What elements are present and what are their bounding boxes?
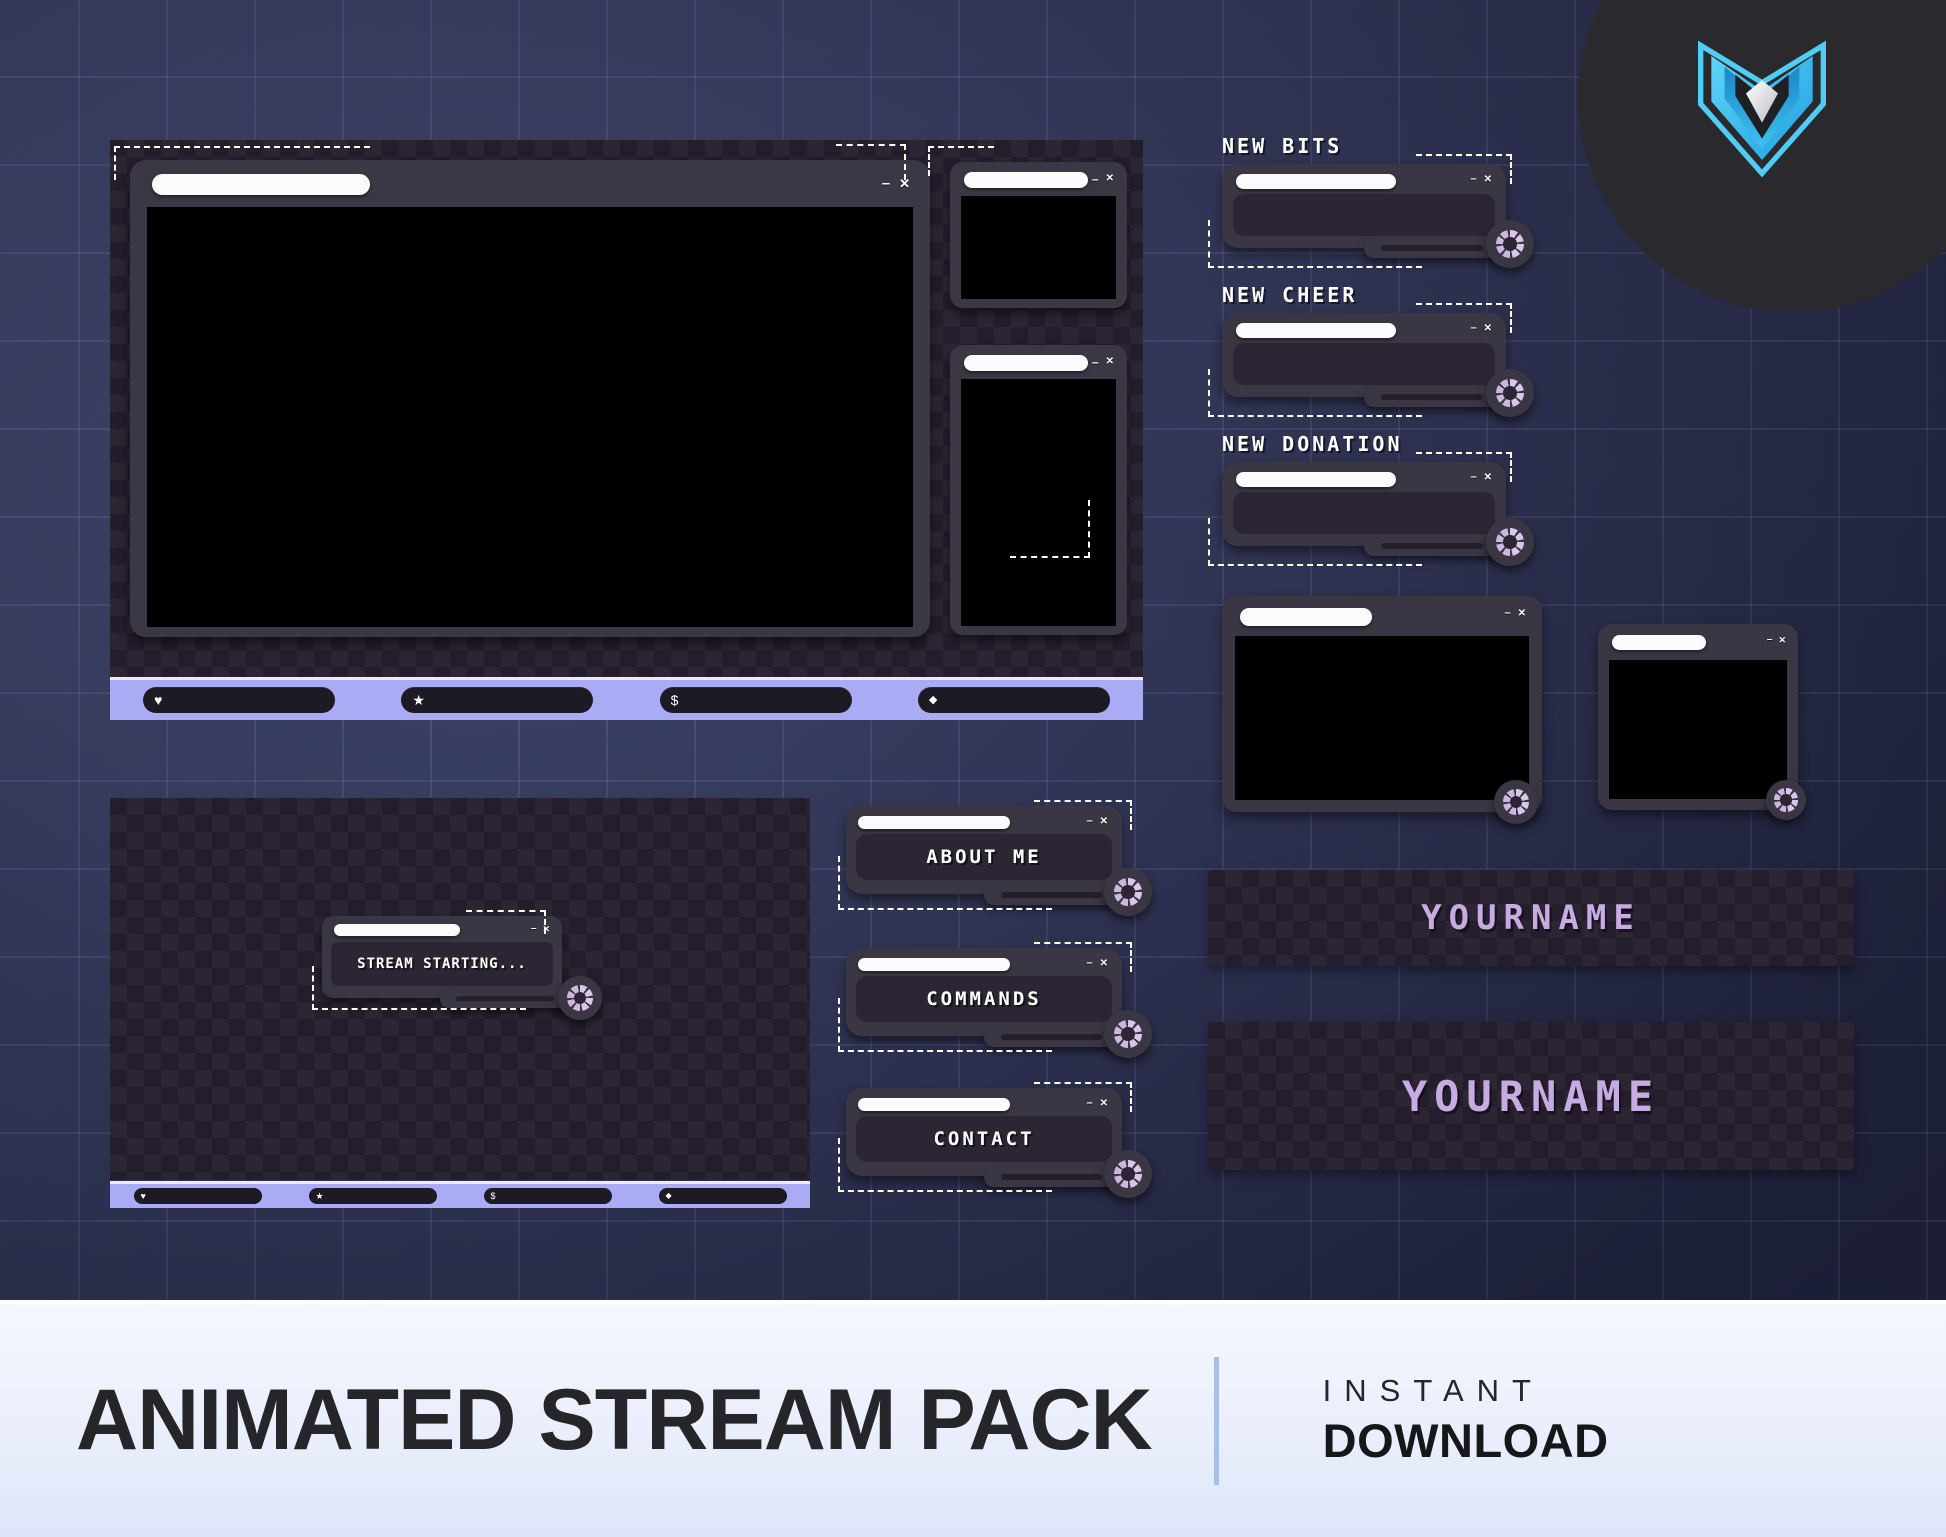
banner-wide-thin: YOURNAME	[1208, 870, 1854, 966]
diamond-icon: ◆	[929, 695, 937, 706]
title-pill	[964, 172, 1088, 188]
camera-screen	[1235, 636, 1529, 800]
loading-spinner-icon	[1486, 518, 1534, 566]
alert-label-new-cheer: NEW CHEER	[1222, 283, 1357, 307]
spinner-ring	[1503, 789, 1529, 815]
tail-groove	[1381, 245, 1483, 251]
window-controls[interactable]: – ✕	[1092, 356, 1114, 368]
diamond-icon: ◆	[666, 1192, 672, 1200]
panel-label: CONTACT	[933, 1128, 1034, 1150]
big-camera-frame[interactable]: – ✕	[130, 160, 930, 637]
widget-inner: ABOUT ME	[856, 834, 1112, 880]
right-camera-small[interactable]: – ✕	[1598, 624, 1798, 810]
loading-spinner-icon	[1104, 1010, 1152, 1058]
banner-name-text: YOURNAME	[1402, 1072, 1660, 1121]
panel-label: ABOUT ME	[926, 846, 1042, 868]
footer-divider	[1214, 1357, 1219, 1485]
bar-slot: $	[460, 1188, 635, 1204]
title-pill	[1240, 608, 1372, 626]
panel-label: COMMANDS	[926, 988, 1042, 1010]
widget-inner	[1233, 343, 1495, 385]
widget-inner	[1233, 492, 1495, 534]
camera-screen	[147, 207, 913, 627]
close-icon[interactable]: ✕	[1778, 636, 1786, 645]
tail-groove	[1001, 1034, 1102, 1040]
widget-tail	[1364, 238, 1506, 258]
alert-label-new-donation: NEW DONATION	[1222, 432, 1403, 456]
star-icon: ★	[316, 1192, 324, 1201]
title-pill	[964, 355, 1088, 371]
star-pill[interactable]: ★	[309, 1188, 437, 1204]
main-stream-overlay: – ✕ – ✕ – ✕ ♥	[110, 140, 1143, 720]
panel-contact[interactable]: – ✕ CONTACT	[846, 1088, 1152, 1202]
widget-tail	[1364, 387, 1506, 407]
follow-pill[interactable]: ♥	[143, 687, 335, 713]
loading-spinner-icon	[1486, 369, 1534, 417]
footer-cta: INSTANT DOWNLOAD	[1323, 1373, 1609, 1468]
close-icon[interactable]: ✕	[1484, 473, 1492, 483]
minimize-icon[interactable]: –	[1086, 1098, 1092, 1109]
minimize-icon[interactable]: –	[1086, 958, 1092, 969]
title-pill	[334, 924, 460, 936]
close-icon[interactable]: ✕	[1518, 609, 1526, 619]
widget-box[interactable]: – ✕	[1222, 164, 1506, 248]
tail-groove	[456, 996, 554, 1001]
overlay-bottom-bar: ♥ ★ $ ◆	[110, 677, 1143, 720]
starting-label: STREAM STARTING...	[357, 956, 527, 972]
spinner-ring	[1496, 379, 1524, 407]
close-icon[interactable]: ✕	[1100, 817, 1108, 827]
close-icon[interactable]: ✕	[1106, 174, 1114, 184]
title-pill	[1612, 635, 1706, 650]
minimize-icon[interactable]: –	[1092, 173, 1099, 185]
widget-box[interactable]: – ✕ ABOUT ME	[846, 806, 1122, 894]
widget-inner: CONTACT	[856, 1116, 1112, 1162]
stream-starting-screen: – ✕ STREAM STARTING... ♥	[110, 798, 810, 1208]
footer-title: ANIMATED STREAM PACK	[76, 1371, 1152, 1470]
follow-pill[interactable]: ♥	[134, 1188, 262, 1204]
donation-pill[interactable]: $	[660, 687, 852, 713]
star-icon: ★	[412, 693, 425, 707]
window-controls[interactable]: – ✕	[1092, 173, 1114, 185]
alert-new-bits[interactable]: – ✕	[1222, 164, 1534, 274]
loading-spinner-icon	[558, 976, 602, 1020]
stream-pack-preview: – ✕ – ✕ – ✕ ♥	[0, 0, 1946, 1537]
close-icon[interactable]: ✕	[1100, 1099, 1108, 1109]
window-controls[interactable]: – ✕	[882, 176, 910, 191]
widget-tail	[984, 1027, 1124, 1047]
minimize-icon[interactable]: –	[1470, 323, 1476, 334]
widget-box[interactable]: – ✕ CONTACT	[846, 1088, 1122, 1176]
tail-groove	[1001, 1174, 1102, 1180]
minimize-icon[interactable]: –	[1504, 608, 1510, 619]
close-icon[interactable]: ✕	[1484, 175, 1492, 185]
close-icon[interactable]: ✕	[1484, 324, 1492, 334]
minimize-icon[interactable]: –	[1092, 356, 1099, 368]
close-icon[interactable]: ✕	[542, 925, 550, 934]
window-controls[interactable]: – ✕	[1086, 1098, 1108, 1109]
loading-spinner-icon	[1494, 780, 1538, 824]
minimize-icon[interactable]: –	[882, 176, 890, 191]
side-camera-top[interactable]: – ✕	[950, 162, 1127, 308]
banner-name-text: YOURNAME	[1421, 898, 1641, 938]
star-pill[interactable]: ★	[401, 687, 593, 713]
download-text: DOWNLOAD	[1323, 1413, 1609, 1468]
minimize-icon[interactable]: –	[531, 924, 537, 934]
title-pill	[1236, 472, 1396, 487]
gem-pill[interactable]: ◆	[659, 1188, 787, 1204]
window-controls[interactable]: – ✕	[1086, 958, 1108, 969]
window-controls[interactable]: – ✕	[1470, 323, 1492, 334]
bar-slot: $	[627, 687, 885, 713]
title-pill	[1236, 174, 1396, 189]
title-pill	[858, 816, 1010, 829]
right-camera-large[interactable]: – ✕	[1222, 596, 1542, 812]
loading-spinner-icon	[1766, 780, 1806, 820]
widget-tail	[440, 990, 576, 1008]
widget-tail	[984, 885, 1124, 905]
window-controls[interactable]: – ✕	[1767, 635, 1786, 645]
spinner-ring	[1114, 878, 1142, 906]
widget-box[interactable]: – ✕	[1222, 313, 1506, 397]
close-icon[interactable]: ✕	[1100, 959, 1108, 969]
tail-groove	[1381, 543, 1483, 549]
bar-slot: ★	[285, 1188, 460, 1204]
widget-inner: STREAM STARTING...	[331, 942, 553, 986]
starting-alert-widget[interactable]: – ✕ STREAM STARTING...	[322, 916, 592, 1020]
minimize-icon[interactable]: –	[1767, 635, 1773, 645]
window-controls[interactable]: – ✕	[1470, 472, 1492, 483]
loading-spinner-icon	[1104, 1150, 1152, 1198]
logo-svg	[1682, 24, 1842, 184]
alert-label-new-bits: NEW BITS	[1222, 134, 1342, 158]
loading-spinner-icon	[1104, 868, 1152, 916]
widget-box[interactable]: – ✕	[1222, 462, 1506, 546]
spinner-ring	[1114, 1020, 1142, 1048]
dollar-icon: $	[671, 693, 679, 707]
side-camera-bottom[interactable]: – ✕	[950, 345, 1127, 635]
minimize-icon[interactable]: –	[1470, 174, 1476, 185]
widget-inner	[1233, 194, 1495, 236]
shield-diamond-logo	[1682, 24, 1842, 184]
title-pill	[858, 958, 1010, 971]
widget-box[interactable]: – ✕ STREAM STARTING...	[322, 916, 562, 998]
title-pill	[1236, 323, 1396, 338]
window-controls[interactable]: – ✕	[1504, 608, 1526, 619]
title-pill	[858, 1098, 1010, 1111]
heart-icon: ♥	[154, 693, 162, 707]
footer-banner: ANIMATED STREAM PACK INSTANT DOWNLOAD	[0, 1300, 1946, 1537]
close-icon[interactable]: ✕	[899, 177, 910, 190]
camera-screen	[1609, 660, 1787, 799]
minimize-icon[interactable]: –	[1470, 472, 1476, 483]
spinner-ring	[1496, 230, 1524, 258]
panel-about-me[interactable]: – ✕ ABOUT ME	[846, 806, 1152, 920]
window-controls[interactable]: – ✕	[1086, 816, 1108, 827]
gem-pill[interactable]: ◆	[918, 687, 1110, 713]
widget-tail	[984, 1167, 1124, 1187]
panel-commands[interactable]: – ✕ COMMANDS	[846, 948, 1152, 1062]
heart-icon: ♥	[141, 1192, 146, 1201]
instant-text: INSTANT	[1323, 1373, 1544, 1409]
widget-inner: COMMANDS	[856, 976, 1112, 1022]
bar-slot: ◆	[635, 1188, 810, 1204]
camera-screen	[961, 379, 1116, 626]
close-icon[interactable]: ✕	[1106, 357, 1114, 367]
donation-pill[interactable]: $	[484, 1188, 612, 1204]
widget-box[interactable]: – ✕ COMMANDS	[846, 948, 1122, 1036]
loading-spinner-icon	[1486, 220, 1534, 268]
window-controls[interactable]: – ✕	[531, 924, 550, 934]
bar-slot: ◆	[885, 687, 1143, 713]
bar-slot: ♥	[110, 687, 368, 713]
title-pill	[152, 174, 370, 195]
spinner-ring	[1496, 528, 1524, 556]
camera-screen	[961, 196, 1116, 299]
minimize-icon[interactable]: –	[1086, 816, 1092, 827]
tail-groove	[1001, 892, 1102, 898]
bar-slot: ♥	[110, 1188, 285, 1204]
bar-slot: ★	[368, 687, 626, 713]
dollar-icon: $	[491, 1192, 496, 1201]
alert-new-cheer[interactable]: – ✕	[1222, 313, 1534, 423]
tail-groove	[1381, 394, 1483, 400]
starting-bottom-bar: ♥ ★ $ ◆	[110, 1181, 810, 1208]
banner-wide-tall: YOURNAME	[1208, 1022, 1854, 1170]
window-controls[interactable]: – ✕	[1470, 174, 1492, 185]
spinner-ring	[567, 985, 593, 1011]
widget-tail	[1364, 536, 1506, 556]
alert-new-donation[interactable]: – ✕	[1222, 462, 1534, 572]
spinner-ring	[1114, 1160, 1142, 1188]
spinner-ring	[1774, 788, 1797, 811]
